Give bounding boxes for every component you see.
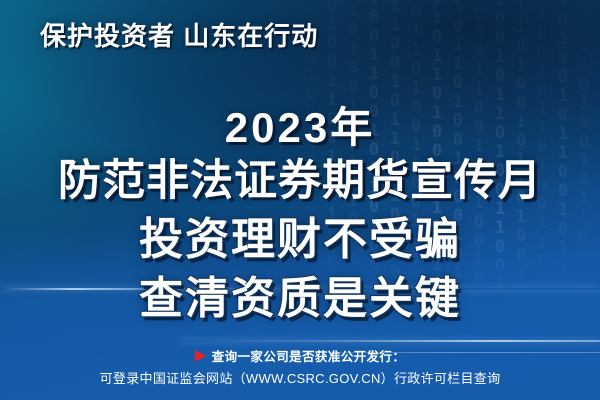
poster-footer: 查询一家公司是否获准公开发行： 可登录中国证监会网站（WWW.CSRC.GOV.… [0, 348, 600, 388]
footer-website-line: 可登录中国证监会网站（WWW.CSRC.GOV.CN）行政许可栏目查询 [0, 370, 600, 388]
footer-question-line: 查询一家公司是否获准公开发行： [0, 348, 600, 366]
headline-campaign: 防范非法证券期货宣传月 [0, 155, 600, 207]
headline-year: 2023年 [0, 104, 600, 152]
campaign-kicker: 保护投资者 山东在行动 [40, 16, 318, 53]
footer-question-text: 查询一家公司是否获准公开发行： [212, 350, 406, 364]
slogan-line-1: 投资理财不受骗 [0, 213, 600, 266]
poster-canvas: 0 1 0 1 1 0 0 1 0 1 1 0 1 0 0 1 0 1 1 0 … [0, 0, 600, 400]
poster-content: 保护投资者 山东在行动 2023年 防范非法证券期货宣传月 投资理财不受骗 查清… [0, 0, 600, 400]
headline-block: 2023年 防范非法证券期货宣传月 投资理财不受骗 查清资质是关键 [0, 104, 600, 325]
slogan-line-2: 查清资质是关键 [0, 272, 600, 325]
red-triangle-icon [195, 350, 206, 362]
